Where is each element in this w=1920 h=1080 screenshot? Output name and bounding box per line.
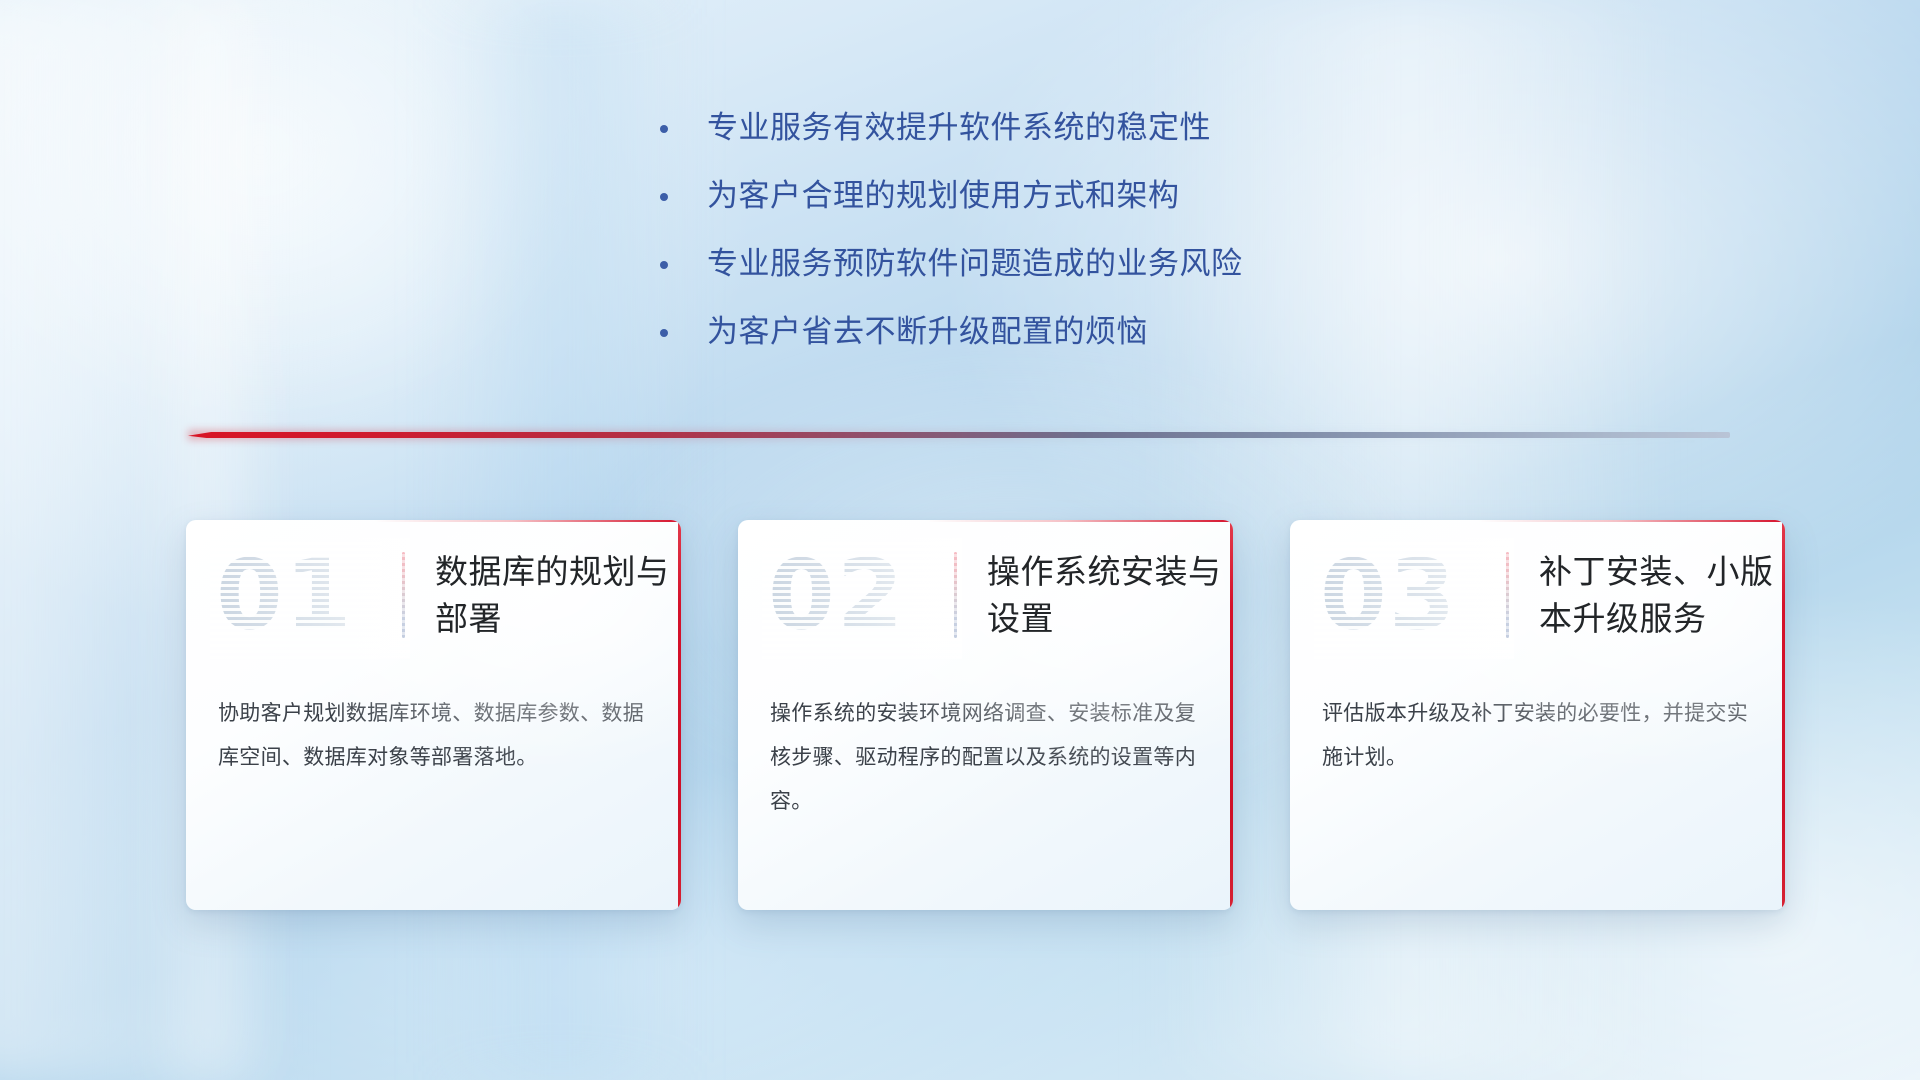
card-title-rule	[1506, 552, 1509, 638]
list-item: 专业服务预防软件问题造成的业务风险	[660, 244, 1420, 284]
bullet-dot-icon	[660, 329, 668, 337]
card-number: 01	[216, 547, 402, 643]
list-item: 专业服务有效提升软件系统的稳定性	[660, 108, 1420, 148]
benefits-bullet-list: 专业服务有效提升软件系统的稳定性 为客户合理的规划使用方式和架构 专业服务预防软…	[660, 108, 1420, 380]
card-title: 数据库的规划与部署	[435, 548, 671, 642]
card-title: 操作系统安装与设置	[987, 548, 1223, 642]
card-header: 01 数据库的规划与部署	[186, 520, 681, 670]
section-divider	[188, 428, 1730, 442]
bullet-dot-icon	[660, 261, 668, 269]
card-description: 评估版本升级及补丁安装的必要性，并提交实施计划。	[1290, 670, 1785, 780]
card-description: 操作系统的安装环境网络调查、安装标准及复核步骤、驱动程序的配置以及系统的设置等内…	[738, 670, 1233, 824]
service-card-03[interactable]: 03 补丁安装、小版本升级服务 评估版本升级及补丁安装的必要性，并提交实施计划。	[1290, 520, 1785, 910]
card-title: 补丁安装、小版本升级服务	[1539, 548, 1775, 642]
service-card-01[interactable]: 01 数据库的规划与部署 协助客户规划数据库环境、数据库参数、数据库空间、数据库…	[186, 520, 681, 910]
bullet-text: 专业服务预防软件问题造成的业务风险	[707, 244, 1243, 284]
background-glow-top-left	[0, 0, 640, 460]
card-header: 02 操作系统安装与设置	[738, 520, 1233, 670]
card-title-rule	[954, 552, 957, 638]
service-card-02[interactable]: 02 操作系统安装与设置 操作系统的安装环境网络调查、安装标准及复核步骤、驱动程…	[738, 520, 1233, 910]
bullet-text: 为客户省去不断升级配置的烦恼	[707, 312, 1148, 352]
bullet-text: 为客户合理的规划使用方式和架构	[707, 176, 1180, 216]
card-number: 02	[768, 547, 954, 643]
list-item: 为客户省去不断升级配置的烦恼	[660, 312, 1420, 352]
bullet-dot-icon	[660, 193, 668, 201]
card-description: 协助客户规划数据库环境、数据库参数、数据库空间、数据库对象等部署落地。	[186, 670, 681, 780]
service-card-group: 01 数据库的规划与部署 协助客户规划数据库环境、数据库参数、数据库空间、数据库…	[186, 520, 1786, 910]
divider-bar	[188, 432, 1730, 438]
bullet-dot-icon	[660, 125, 668, 133]
list-item: 为客户合理的规划使用方式和架构	[660, 176, 1420, 216]
card-number: 03	[1320, 547, 1506, 643]
bullet-text: 专业服务有效提升软件系统的稳定性	[707, 108, 1211, 148]
card-title-rule	[402, 552, 405, 638]
slide-canvas: 专业服务有效提升软件系统的稳定性 为客户合理的规划使用方式和架构 专业服务预防软…	[0, 0, 1920, 1080]
card-header: 03 补丁安装、小版本升级服务	[1290, 520, 1785, 670]
